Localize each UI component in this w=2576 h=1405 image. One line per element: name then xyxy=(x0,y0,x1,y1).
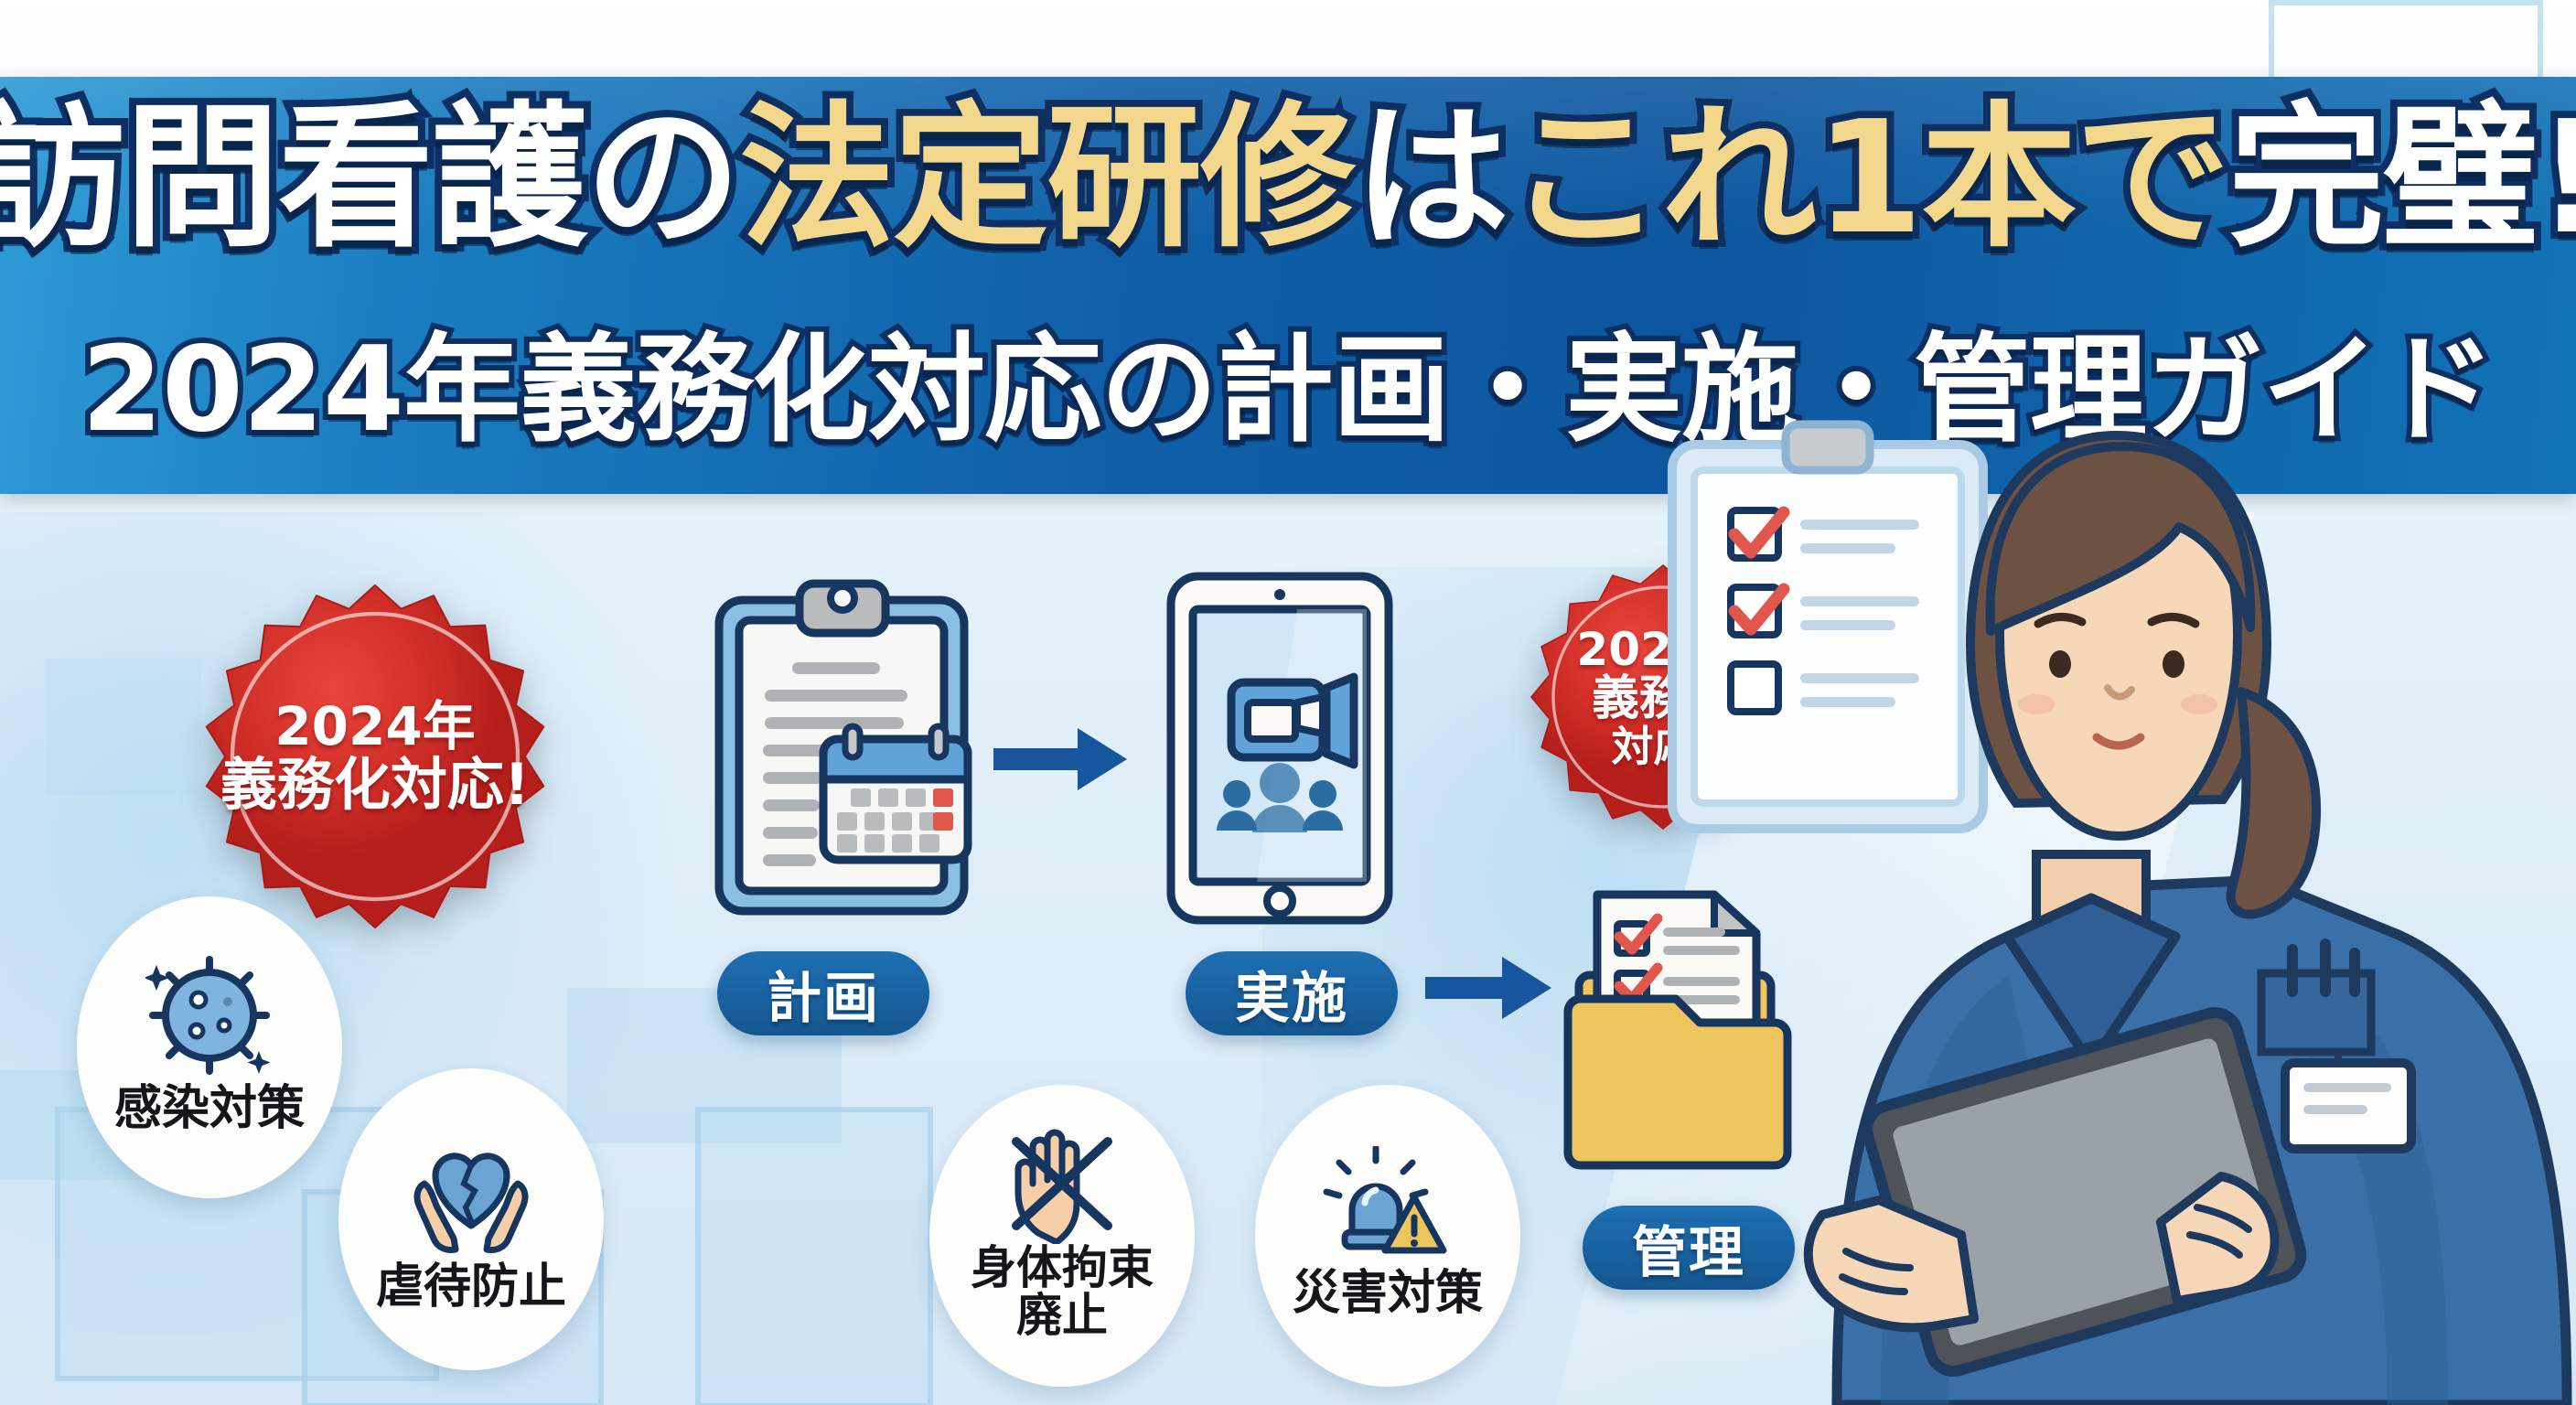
title-segment-4: これ1本で xyxy=(1508,97,2228,261)
tablet-video-training-icon xyxy=(1160,565,1400,931)
bg-block-5 xyxy=(695,1107,933,1405)
flow-pill-plan-label: 計画 xyxy=(767,954,880,1034)
title-segment-1: 訪問看護の xyxy=(0,97,739,261)
topic-chip-restraint-label-2: 廃止 xyxy=(1016,1292,1108,1340)
no-restraint-hand-icon xyxy=(998,1125,1126,1244)
arrow-plan-to-do-icon xyxy=(993,723,1131,800)
banner-canvas: 訪問看護の 法定研修 は これ1本で 完璧! 2024年義務化対応の計画・実施・… xyxy=(0,0,2576,1405)
flow-pill-do-label: 実施 xyxy=(1235,954,1348,1034)
topic-chip-abuse[interactable]: 虐待防止 xyxy=(338,1068,604,1370)
virus-icon xyxy=(145,956,274,1075)
badge-left: 2024年 義務化対応! xyxy=(197,578,553,935)
badge-left-line-1: 2024年 xyxy=(274,700,475,754)
topic-chip-restraint-label-1: 身体拘束 xyxy=(971,1244,1154,1292)
flow-pill-do[interactable]: 実施 xyxy=(1186,951,1398,1035)
topic-chip-infection[interactable]: 感染対策 xyxy=(77,896,342,1198)
nurse-with-tablet-illustration xyxy=(1606,262,2576,1405)
topic-chip-abuse-label: 虐待防止 xyxy=(376,1262,566,1313)
title-segment-2: 法定研修 xyxy=(739,97,1354,261)
badge-left-line-2: 義務化対応! xyxy=(220,756,530,813)
title-segment-3: は xyxy=(1354,97,1508,261)
title-segment-5: 完璧! xyxy=(2228,97,2576,261)
bg-block-6 xyxy=(46,659,201,796)
siren-warning-icon xyxy=(1319,1146,1456,1265)
topic-chip-restraint[interactable]: 身体拘束 廃止 xyxy=(929,1085,1195,1387)
topic-chip-infection-label: 感染対策 xyxy=(114,1084,305,1134)
main-title: 訪問看護の 法定研修 は これ1本で 完璧! xyxy=(0,97,2576,261)
arrow-do-to-manage-icon xyxy=(1425,951,1553,1029)
heart-in-hands-icon xyxy=(402,1127,540,1255)
flow-pill-plan[interactable]: 計画 xyxy=(717,951,929,1035)
topic-chip-disaster-label: 災害対策 xyxy=(1293,1269,1483,1319)
clipboard-calendar-icon xyxy=(704,560,979,926)
topic-chip-disaster[interactable]: 災害対策 xyxy=(1255,1085,1520,1387)
